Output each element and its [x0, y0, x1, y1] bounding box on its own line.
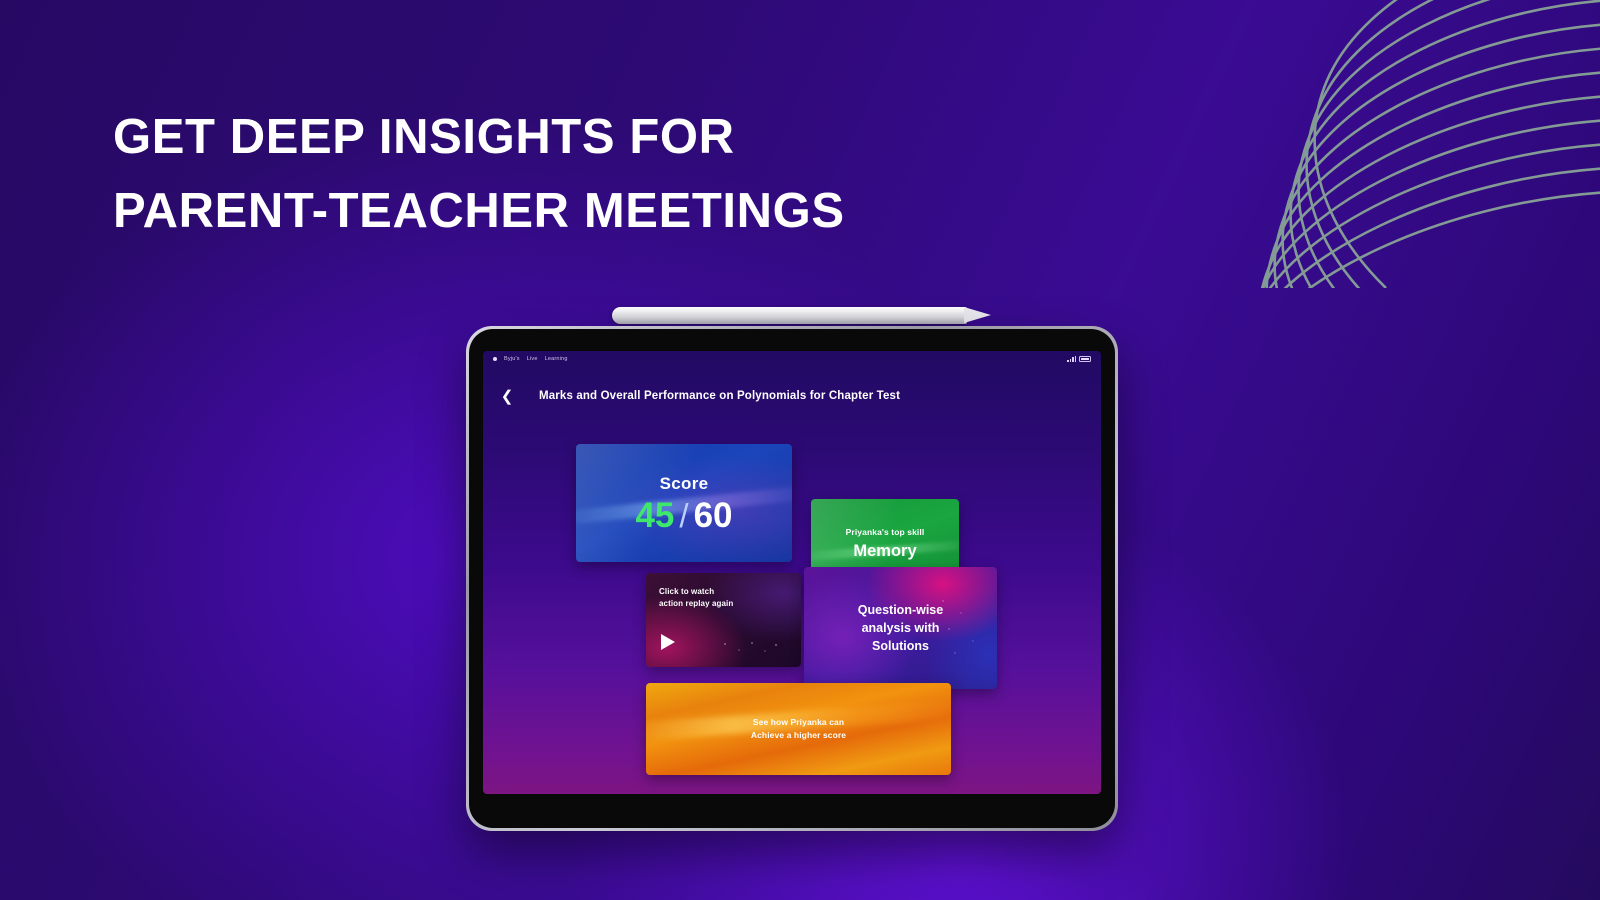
skill-eyebrow: Priyanka's top skill [846, 527, 925, 537]
stylus-pen [612, 307, 992, 324]
achieve-line-2: Achieve a higher score [751, 729, 846, 742]
tablet-screen: Byju's Live Learning ❮ Marks and Overall… [483, 351, 1101, 794]
analysis-line-2: analysis with [858, 619, 943, 637]
concentric-arcs-decoration [1180, 0, 1600, 288]
analysis-line-1: Question-wise [858, 601, 943, 619]
skill-value: Memory [853, 542, 916, 561]
action-replay-card[interactable]: Click to watch action replay again [646, 573, 801, 667]
score-obtained: 45 [635, 498, 674, 533]
score-card[interactable]: Score 45 / 60 [576, 444, 792, 562]
tablet-bezel: Byju's Live Learning ❮ Marks and Overall… [469, 329, 1115, 828]
promo-banner: GET DEEP INSIGHTS FOR PARENT-TEACHER MEE… [0, 0, 1600, 900]
sparkle-decoration [719, 639, 783, 657]
replay-line-1: Click to watch [659, 586, 801, 598]
score-label: Score [660, 474, 709, 494]
page-title: GET DEEP INSIGHTS FOR PARENT-TEACHER MEE… [113, 100, 1013, 249]
headline-line-1: GET DEEP INSIGHTS FOR [113, 100, 1013, 174]
achieve-line-1: See how Priyanka can [751, 716, 846, 729]
stylus-tip [964, 307, 991, 323]
score-separator: / [676, 499, 691, 532]
tablet-device: Byju's Live Learning ❮ Marks and Overall… [466, 326, 1118, 831]
play-triangle-icon[interactable] [661, 634, 675, 650]
headline-line-2: PARENT-TEACHER MEETINGS [113, 174, 1013, 248]
stylus-barrel [612, 307, 967, 324]
replay-line-2: action replay again [659, 598, 801, 610]
card-deck: Score 45 / 60 Priyanka's top skill Memor… [483, 351, 1101, 794]
achieve-text: See how Priyanka can Achieve a higher sc… [751, 716, 846, 742]
score-total: 60 [694, 498, 733, 533]
question-analysis-card[interactable]: Question-wise analysis with Solutions [804, 567, 997, 689]
score-values: 45 / 60 [635, 498, 732, 533]
analysis-text: Question-wise analysis with Solutions [858, 601, 943, 655]
achieve-higher-score-card[interactable]: See how Priyanka can Achieve a higher sc… [646, 683, 951, 775]
analysis-line-3: Solutions [858, 637, 943, 655]
replay-text: Click to watch action replay again [659, 586, 801, 609]
